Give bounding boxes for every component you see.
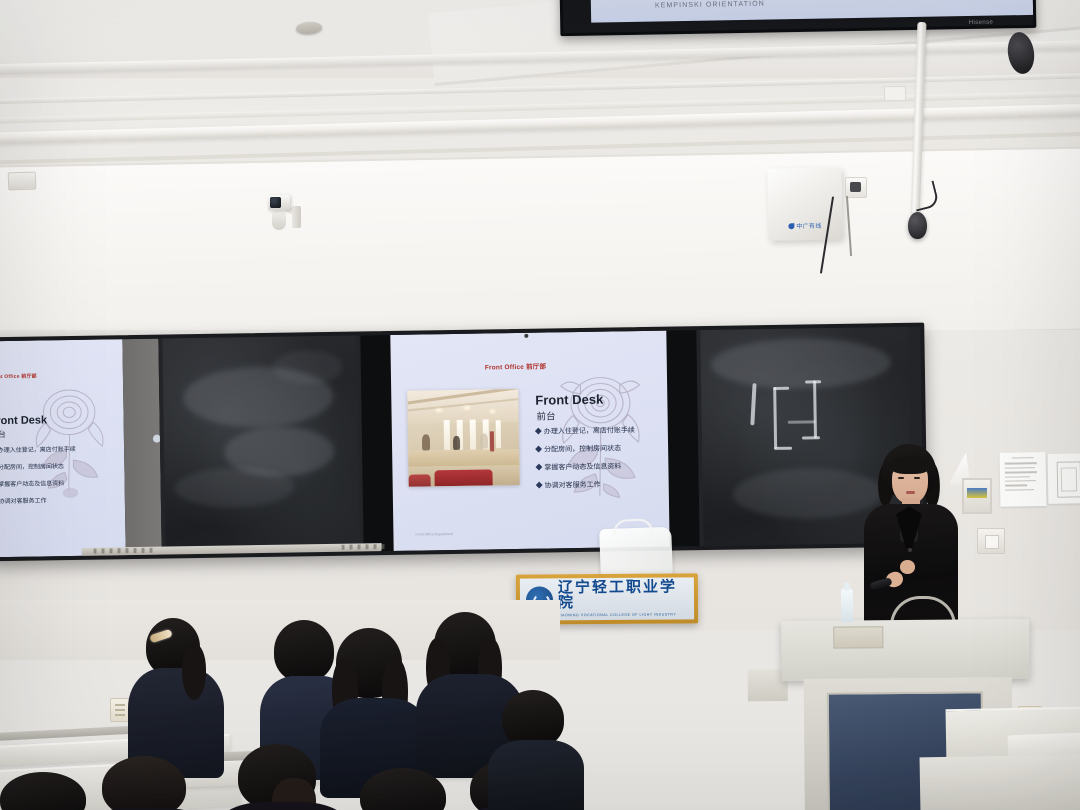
college-sign-text: 辽宁轻工职业学院 LIAONING VOCATIONAL COLLEGE OF … — [558, 580, 688, 618]
left-slide-bullet-1: 办理入住登记，离店付账手续 — [0, 444, 76, 454]
left-slide-title-cn: 前台 — [0, 429, 6, 440]
photo-accent — [490, 431, 494, 451]
slide-header: Front Office 前厅部 — [485, 361, 546, 372]
photo-sofa — [409, 474, 431, 486]
left-slide-bullet-2: 分配房间，控制房间状态 — [0, 461, 64, 471]
left-slide: Front Office 前厅部 — [0, 339, 126, 557]
left-display-panel: Front Office 前厅部 — [0, 339, 162, 558]
college-name-cn: 辽宁轻工职业学院 — [558, 580, 688, 611]
slide-bullet-1: 办理入住登记，离店付账手续 — [535, 425, 635, 437]
chalk-stroke — [773, 387, 777, 449]
left-display-dead-area — [122, 339, 161, 556]
hotel-lobby-photo — [407, 389, 519, 487]
presentation-slide: Front Office 前厅部 — [390, 331, 669, 551]
chalk-smudge — [174, 466, 295, 508]
photo-light-panel — [470, 420, 476, 450]
slide-footer: Front Office Department — [415, 532, 453, 537]
notice-sheet-a — [1000, 452, 1047, 507]
desk-power-outlet-icon[interactable] — [110, 698, 130, 722]
college-name-en: LIAONING VOCATIONAL COLLEGE OF LIGHT IND… — [558, 613, 688, 618]
chalk-stroke — [813, 380, 817, 438]
wall-junction-box — [884, 86, 906, 101]
left-slide-title-en: Front Desk — [0, 414, 47, 427]
left-display-indicator — [153, 435, 161, 443]
slide-title-cn: 前台 — [536, 408, 555, 422]
slide-bullet-4: 协调对客服务工作 — [536, 480, 601, 491]
photo-light-panel — [496, 420, 501, 448]
photo-front-desk-counter — [408, 449, 519, 467]
chalk-smudge — [273, 350, 344, 385]
lectern-label-plate — [833, 626, 883, 648]
wall-notices — [1000, 451, 1080, 510]
student-head — [274, 620, 334, 682]
photo-person — [422, 434, 430, 450]
camera-lens-icon — [270, 197, 281, 208]
presenter-coat-button — [908, 548, 912, 552]
presenter-mouth — [906, 491, 915, 494]
photo-light-panel — [444, 420, 450, 450]
speaker-brand-label: 中广有线 — [788, 221, 821, 231]
student-torso — [488, 740, 584, 810]
slide-bullet-3: 掌握客户动态及信息资料 — [535, 461, 621, 472]
chalk-stroke — [750, 383, 756, 425]
presenter-hand-right — [900, 560, 915, 574]
left-slide-bullet-3: 掌握客户动态及信息资料 — [0, 478, 64, 488]
chalk-tray-vents — [342, 544, 388, 550]
slide-title-en: Front Desk — [535, 392, 603, 408]
electrical-panel-icon — [962, 478, 992, 514]
left-slide-bullet-4: 协调对客服务工作 — [0, 495, 47, 505]
photo-sofa — [434, 469, 492, 486]
chalk-stroke — [802, 436, 820, 439]
power-outlet-icon[interactable] — [845, 177, 867, 198]
main-display-panel: Front Office 前厅部 — [360, 330, 699, 551]
water-bottle — [841, 588, 853, 622]
board-and-screen-row: Front Office 前厅部 — [0, 323, 920, 562]
light-switch-icon[interactable] — [977, 528, 1005, 554]
camera-wall-plate — [292, 206, 301, 228]
chalk-stroke — [773, 387, 789, 390]
classroom-photo: KEMPINSKI ORIENTATION Hisense 中广有线 Front… — [0, 0, 1080, 810]
wall-mounted-box — [8, 172, 37, 191]
display-camera-icon — [524, 334, 528, 338]
photo-person — [453, 436, 460, 450]
student-head — [102, 756, 186, 810]
slide-bullet-2: 分配房间，控制房间状态 — [535, 443, 621, 454]
photo-person — [480, 433, 488, 448]
display-brand-label: Hisense — [969, 20, 994, 26]
camera-mount — [272, 210, 286, 230]
chalkboard-left-section — [162, 336, 359, 555]
chalk-stroke — [774, 447, 792, 450]
student-hair — [182, 644, 206, 700]
chalk-tray-vents — [94, 548, 154, 554]
chalk-smudge — [710, 337, 891, 390]
student-desk-right-front — [920, 755, 1080, 810]
presenter-fringe — [889, 456, 931, 474]
notice-sheet-b — [1048, 453, 1080, 504]
ceiling-microphone-icon — [908, 212, 927, 239]
chalk-stroke — [788, 420, 816, 423]
lectern-top — [781, 619, 1030, 681]
chalk-stroke — [805, 380, 821, 383]
plastic-bag — [599, 527, 673, 577]
